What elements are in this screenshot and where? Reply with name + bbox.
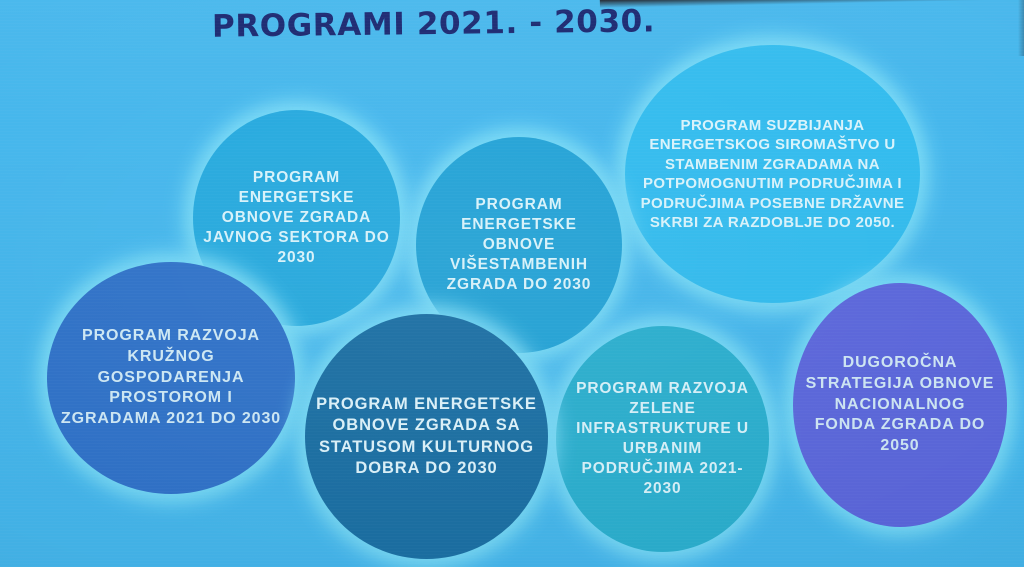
slide-canvas: PROGRAMI 2021. - 2030. PROGRAM SUZBIJANJ…: [0, 0, 1024, 567]
bubble-dugorocna-strategija[interactable]: DUGOROČNA STRATEGIJA OBNOVE NACIONALNOG …: [793, 283, 1007, 527]
bubble-label-dugorocna-strategija: DUGOROČNA STRATEGIJA OBNOVE NACIONALNOG …: [803, 353, 997, 457]
bubble-label-energetsko-siromastvo: PROGRAM SUZBIJANJA ENERGETSKOG SIROMAŠTV…: [635, 116, 910, 233]
bubble-label-kruzno-gospodarenje: PROGRAM RAZVOJA KRUŽNOG GOSPODARENJA PRO…: [57, 326, 285, 430]
bubble-kruzno-gospodarenje[interactable]: PROGRAM RAZVOJA KRUŽNOG GOSPODARENJA PRO…: [47, 262, 295, 494]
bubble-zelena-infrastruktura[interactable]: PROGRAM RAZVOJA ZELENE INFRASTRUKTURE U …: [556, 326, 769, 552]
bubble-energetsko-siromastvo[interactable]: PROGRAM SUZBIJANJA ENERGETSKOG SIROMAŠTV…: [625, 45, 920, 303]
page-title-text: PROGRAMI 2021. - 2030.: [212, 3, 656, 44]
bubble-label-javni-sektor: PROGRAM ENERGETSKE OBNOVE ZGRADA JAVNOG …: [203, 168, 390, 269]
bubble-label-zelena-infrastruktura: PROGRAM RAZVOJA ZELENE INFRASTRUKTURE U …: [566, 379, 759, 500]
page-title: PROGRAMI 2021. - 2030.: [0, 6, 1024, 42]
monitor-bezel-right: [1018, 0, 1024, 56]
bubble-label-kulturno-dobro: PROGRAM ENERGETSKE OBNOVE ZGRADA SA STAT…: [315, 394, 538, 480]
bubble-kulturno-dobro[interactable]: PROGRAM ENERGETSKE OBNOVE ZGRADA SA STAT…: [305, 314, 548, 559]
bubble-label-visestambene: PROGRAM ENERGETSKE OBNOVE VIŠESTAMBENIH …: [426, 195, 612, 296]
